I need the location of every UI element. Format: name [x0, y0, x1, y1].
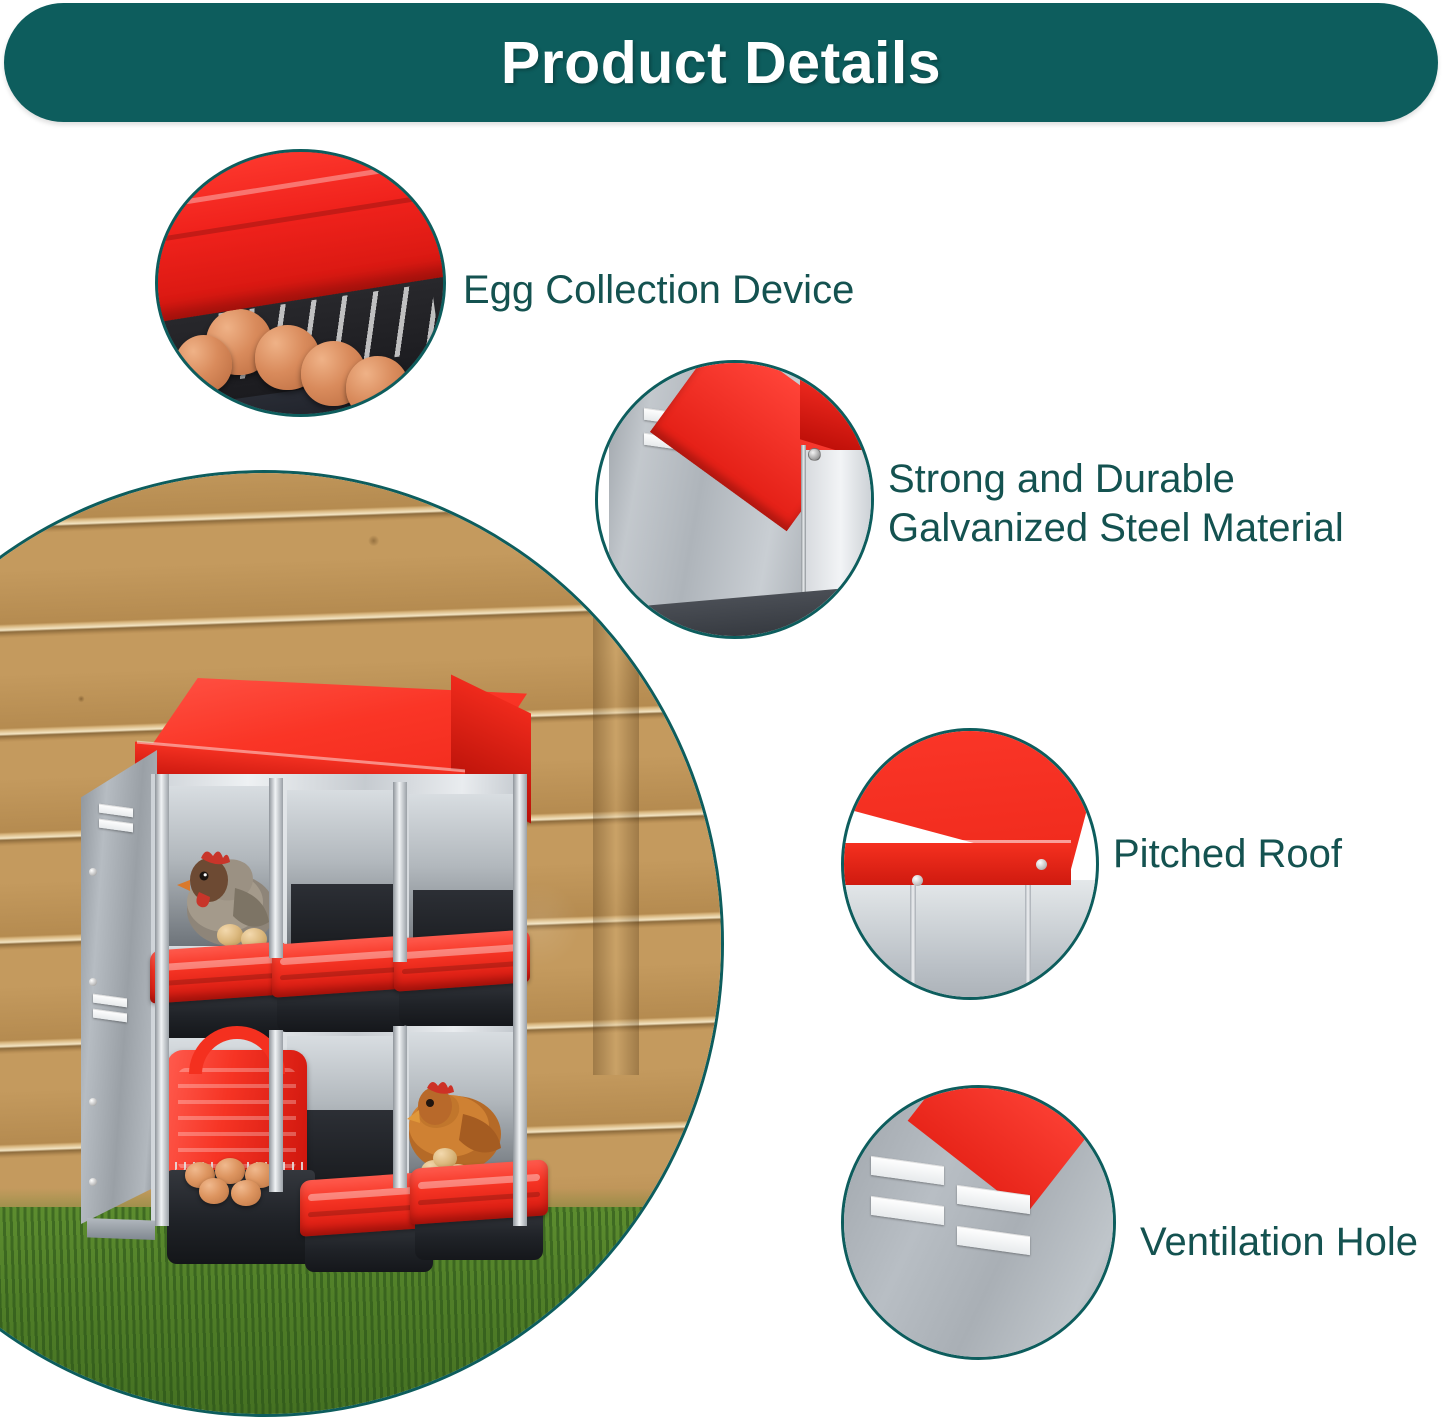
egg-drawer-top-3[interactable] — [399, 934, 525, 1026]
main-product-image — [0, 470, 724, 1417]
pitched-roof-photo — [844, 731, 1096, 997]
chicken-nesting-box — [69, 678, 589, 1288]
callout-label-galvanized-steel: Strong and Durable Galvanized Steel Mate… — [888, 455, 1344, 553]
infographic-page: Product Details Egg Collection Device — [0, 0, 1445, 1417]
callout-image-ventilation-hole — [841, 1085, 1116, 1360]
egg-collection-photo — [158, 152, 443, 414]
callout-image-pitched-roof — [841, 728, 1099, 1000]
ventilation-hole-photo — [844, 1088, 1113, 1357]
callout-label-egg-collection: Egg Collection Device — [463, 266, 854, 315]
callout-label-pitched-roof: Pitched Roof — [1113, 830, 1342, 879]
egg-drawer-top-1[interactable] — [155, 946, 283, 1038]
egg-drawer-top-2[interactable] — [277, 940, 405, 1032]
coop-foot-left — [87, 1218, 155, 1240]
page-title: Product Details — [4, 29, 1438, 97]
callout-label-ventilation-hole: Ventilation Hole — [1140, 1218, 1418, 1267]
page-header-banner: Product Details — [4, 3, 1438, 122]
callout-image-egg-collection — [155, 149, 446, 417]
